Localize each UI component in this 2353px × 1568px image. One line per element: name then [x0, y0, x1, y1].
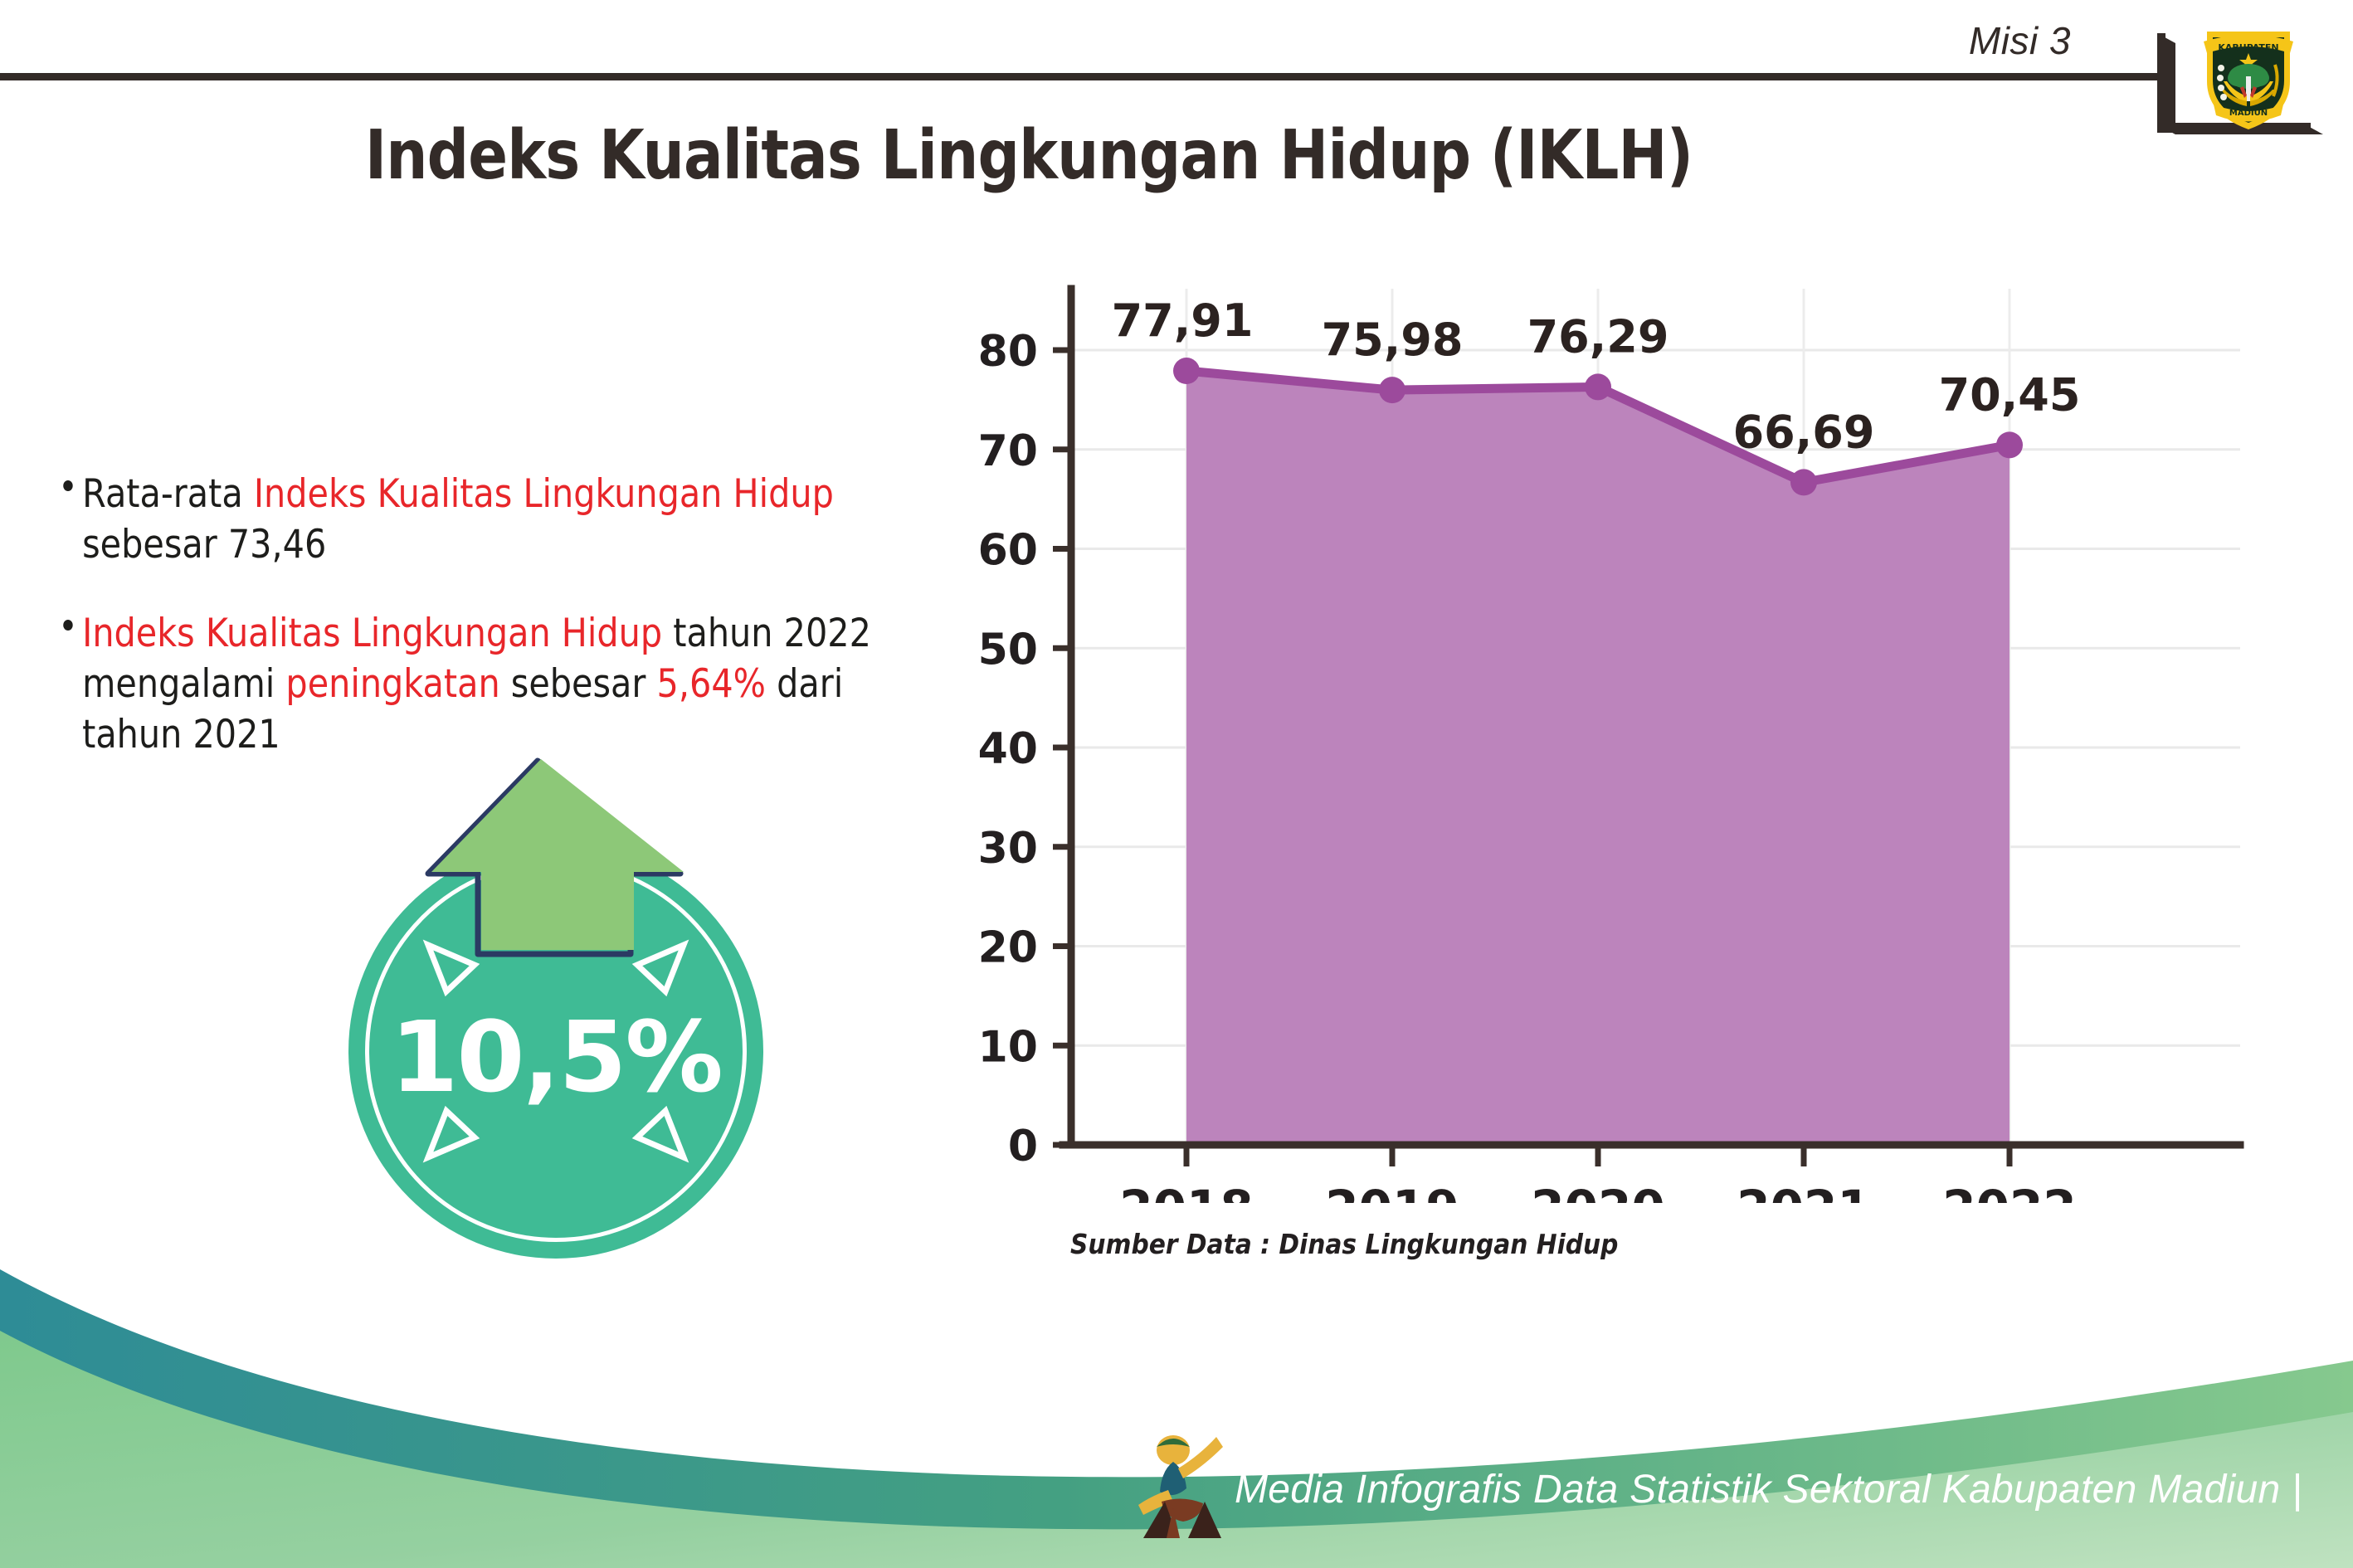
- svg-text:10: 10: [979, 1022, 1038, 1072]
- kabupaten-madiun-logo-icon: KABUPATEN MADIUN: [2199, 17, 2298, 133]
- svg-text:2021: 2021: [1737, 1180, 1870, 1203]
- up-arrow-icon: [332, 751, 780, 1016]
- chart-y-tick-labels: 01020304050607080: [979, 327, 1038, 1171]
- svg-text:2022: 2022: [1942, 1180, 2076, 1203]
- bullet-1-seg1: Rata-rata: [82, 471, 254, 517]
- bullet-dot-icon: [63, 480, 72, 491]
- list-item: Rata-rata Indeks Kualitas Lingkungan Hid…: [65, 469, 883, 570]
- svg-text:2018: 2018: [1119, 1180, 1253, 1203]
- svg-text:75,98: 75,98: [1322, 314, 1464, 366]
- bullet-list: Rata-rata Indeks Kualitas Lingkungan Hid…: [65, 469, 994, 798]
- bullet-2-highlight-2: peningkatan: [285, 661, 499, 707]
- svg-text:76,29: 76,29: [1527, 310, 1669, 363]
- bullet-dot-icon: [63, 620, 72, 631]
- svg-text:70,45: 70,45: [1939, 368, 2081, 421]
- bullet-2-seg4: sebesar: [500, 661, 657, 707]
- svg-text:60: 60: [979, 526, 1038, 576]
- svg-text:80: 80: [979, 327, 1038, 377]
- chart-x-tick-labels: 20182019202020212022: [1119, 1180, 2076, 1203]
- bullet-2-highlight-1: Indeks Kualitas Lingkungan Hidup: [82, 611, 662, 656]
- list-item: Indeks Kualitas Lingkungan Hidup tahun 2…: [65, 608, 883, 760]
- bullet-1-highlight: Indeks Kualitas Lingkungan Hidup: [254, 471, 834, 517]
- svg-text:40: 40: [979, 724, 1038, 774]
- misi-label: Misi 3: [1969, 18, 2071, 63]
- iklh-area-chart: 01020304050607080 20182019202020212022 7…: [979, 274, 2273, 1203]
- svg-text:KABUPATEN: KABUPATEN: [2218, 42, 2278, 53]
- dancer-mascot-icon: [1137, 1425, 1228, 1541]
- chart-source-note: Sumber Data : Dinas Lingkungan Hidup: [1070, 1228, 1618, 1260]
- svg-text:2020: 2020: [1531, 1180, 1664, 1203]
- page-title: Indeks Kualitas Lingkungan Hidup (IKLH): [144, 116, 1914, 195]
- bullet-1-seg3: sebesar 73,46: [82, 522, 326, 567]
- svg-text:66,69: 66,69: [1733, 406, 1875, 458]
- increase-badge: 10,5%: [332, 751, 780, 1215]
- svg-text:70: 70: [979, 426, 1038, 476]
- header-rule: [0, 73, 2165, 80]
- svg-text:0: 0: [1008, 1122, 1038, 1171]
- chart-area-fill: [1186, 371, 2010, 1145]
- svg-text:MADIUN: MADIUN: [2229, 109, 2268, 118]
- svg-text:30: 30: [979, 824, 1038, 874]
- svg-text:77,91: 77,91: [1112, 295, 1254, 347]
- footer-caption: Media Infografis Data Statistik Sektoral…: [1235, 1467, 2302, 1512]
- badge-value: 10,5%: [348, 1000, 763, 1114]
- svg-text:20: 20: [979, 923, 1038, 973]
- svg-text:2019: 2019: [1325, 1180, 1459, 1203]
- svg-text:50: 50: [979, 625, 1038, 674]
- bullet-2-highlight-3: 5,64%: [657, 661, 766, 707]
